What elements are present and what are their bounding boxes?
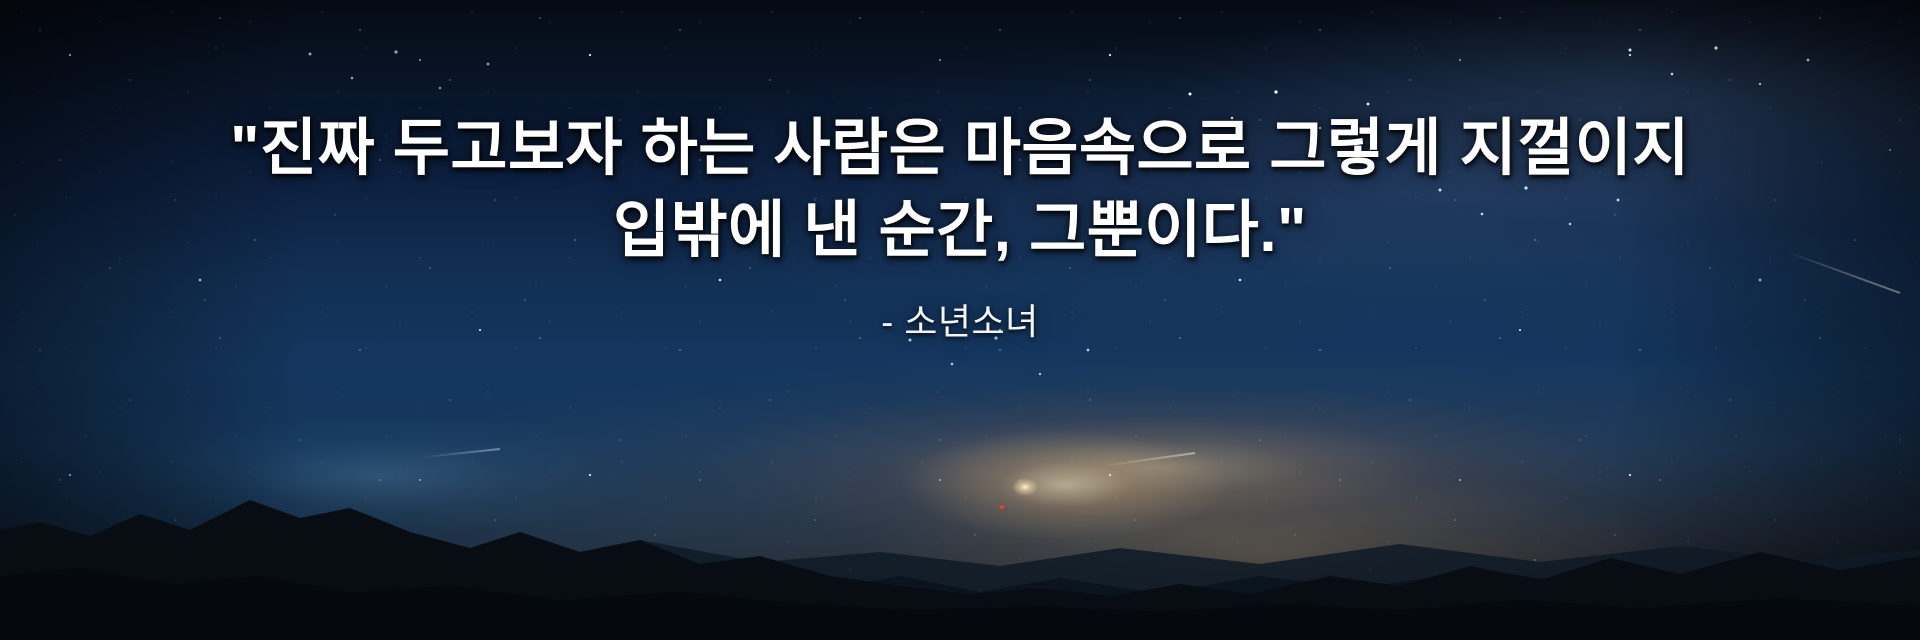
quote-attribution: - 소년소녀 bbox=[881, 300, 1038, 344]
quote-card: "진짜 두고보자 하는 사람은 마음속으로 그렇게 지껄이지 입밖에 낸 순간,… bbox=[0, 0, 1920, 640]
quote-text: "진짜 두고보자 하는 사람은 마음속으로 그렇게 지껄이지 입밖에 낸 순간,… bbox=[90, 108, 1830, 272]
quote-content: "진짜 두고보자 하는 사람은 마음속으로 그렇게 지껄이지 입밖에 낸 순간,… bbox=[0, 0, 1920, 640]
